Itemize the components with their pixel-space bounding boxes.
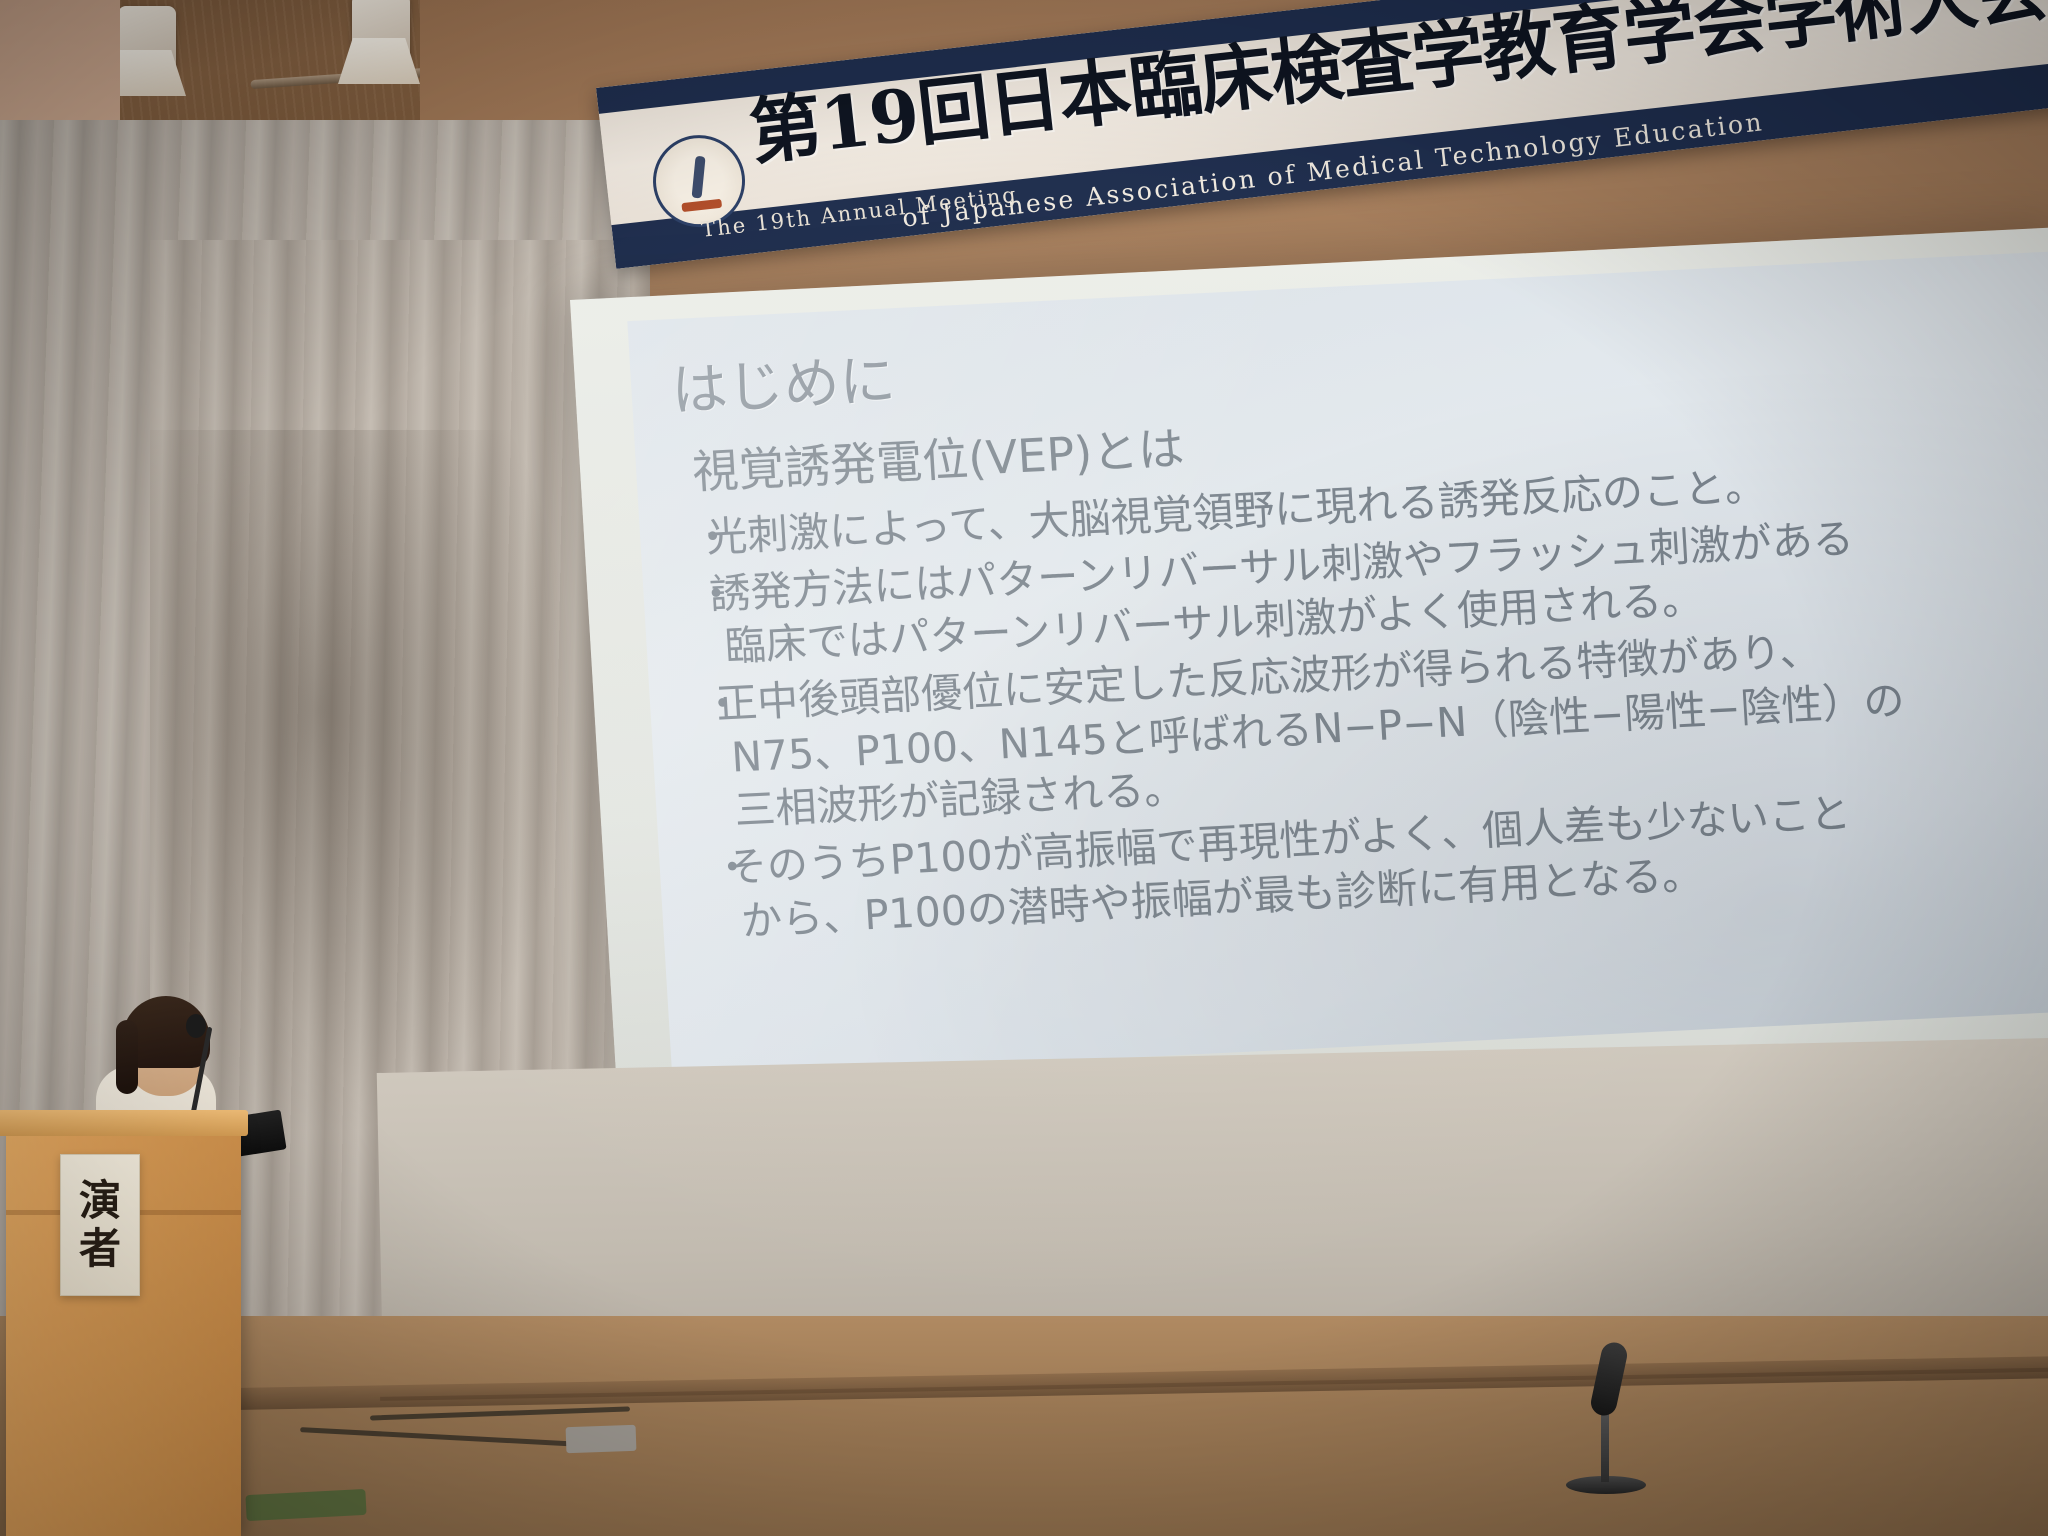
projection-screen: はじめに 視覚誘発電位(VEP)とは ・光刺激によって、大脳視覚領野に現れる誘発… [570,227,2048,1119]
lectern-microphone-icon [186,1014,206,1038]
podium-sign-char-1: 演 [79,1180,121,1222]
podium: 演 者 [6,1126,241,1536]
ceiling-spotlight [118,6,176,72]
podium-speaker-sign: 演 者 [60,1154,140,1296]
floor-microphone-stem [1601,1404,1609,1482]
slide: はじめに 視覚誘発電位(VEP)とは ・光刺激によって、大脳視覚領野に現れる誘発… [627,251,2048,1080]
slide-bullet-list: ・光刺激によって、大脳視覚領野に現れる誘発反応のこと。 ・誘発方法にはパターンリ… [673,445,2048,951]
curtain-shadow [150,430,570,1130]
floor-outlet-plate [566,1425,637,1453]
podium-top-surface [0,1110,248,1136]
podium-sign-char-2: 者 [79,1228,121,1270]
presentation-room-photo: 第19回日本臨床検査学教育学会学術大会 of Japanese Associat… [0,0,2048,1536]
ceiling-spotlight [352,0,410,60]
